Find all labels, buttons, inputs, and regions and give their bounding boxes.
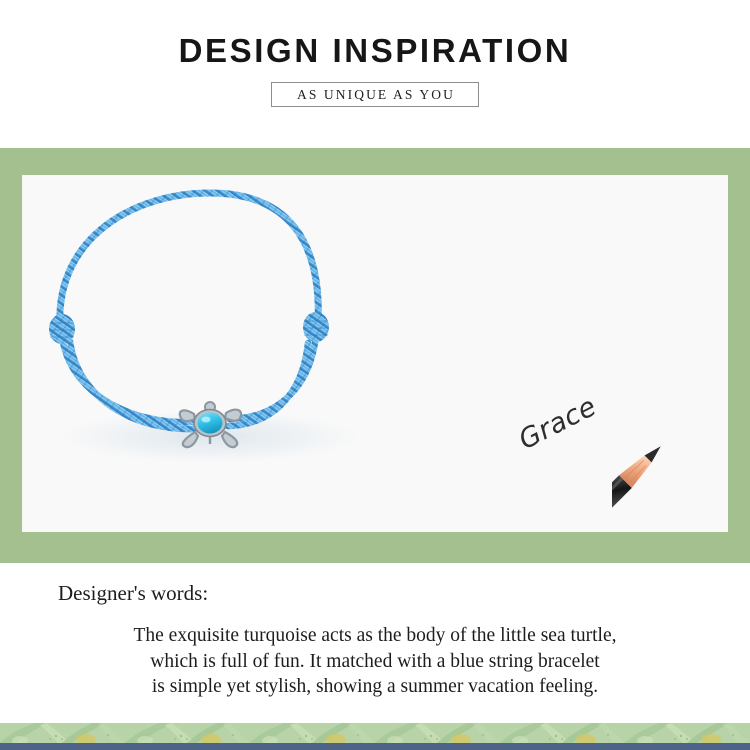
- page-title: DESIGN INSPIRATION: [0, 31, 750, 71]
- designer-words-line: which is full of fun. It matched with a …: [75, 649, 675, 675]
- stone-highlight: [202, 417, 211, 423]
- bracelet-illustration: [22, 175, 492, 532]
- footer-band: [0, 743, 750, 750]
- sliding-knot-right: [303, 312, 329, 342]
- botanical-leaf-pattern: [0, 723, 750, 743]
- pencil-illustration: [612, 435, 728, 532]
- designer-words-section: Designer's words: The exquisite turquois…: [0, 563, 750, 723]
- pattern-graphic: [0, 723, 750, 743]
- designer-words-heading: Designer's words:: [58, 581, 208, 606]
- cord-upper-loop: [60, 193, 318, 325]
- designer-words-line: is simple yet stylish, showing a summer …: [75, 674, 675, 700]
- turquoise-stone: [198, 413, 223, 434]
- bracelet-product-image: [22, 175, 492, 532]
- product-photo-card: Grace: [22, 175, 728, 532]
- designer-words-body: The exquisite turquoise acts as the body…: [75, 623, 675, 700]
- sliding-knot-left: [49, 314, 75, 344]
- designer-signature: Grace: [514, 391, 602, 456]
- subtitle-badge: AS UNIQUE AS YOU: [271, 82, 479, 107]
- photo-frame: Grace: [0, 148, 750, 563]
- designer-words-line: The exquisite turquoise acts as the body…: [75, 623, 675, 649]
- page-header: DESIGN INSPIRATION AS UNIQUE AS YOU: [0, 0, 750, 148]
- subtitle-text: AS UNIQUE AS YOU: [295, 87, 455, 103]
- pencil-icon: [612, 435, 728, 532]
